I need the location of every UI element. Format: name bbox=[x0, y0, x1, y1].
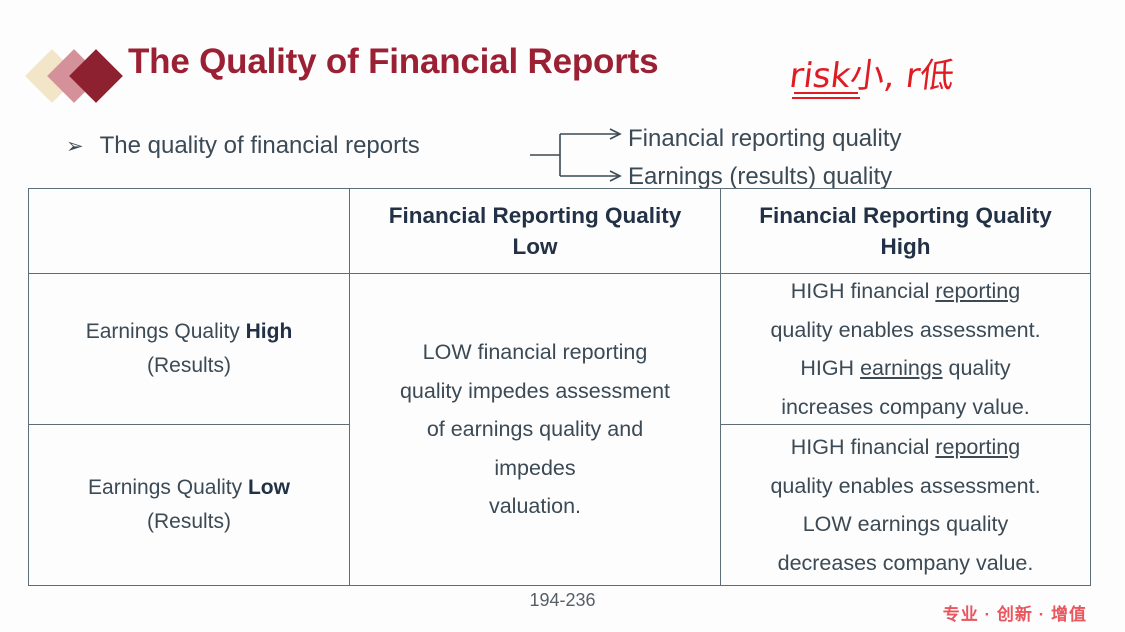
row-header-emphasis: High bbox=[246, 320, 293, 343]
row-header-earnings-low-line1: Earnings Quality Low bbox=[88, 471, 290, 505]
row-header-earnings-high-sub: (Results) bbox=[86, 349, 293, 383]
cell-high-reporting-high-earnings: HIGH financial reporting quality enables… bbox=[720, 273, 1091, 425]
cell-low-reporting-quality: LOW financial reporting quality impedes … bbox=[349, 273, 721, 586]
cell-high-reporting-low-earnings: HIGH financial reporting quality enables… bbox=[720, 424, 1091, 586]
cell-text-underlined: reporting bbox=[935, 435, 1020, 459]
cell-text-pre: decreases company value. bbox=[778, 551, 1034, 575]
bullet-line: ➢ The quality of financial reports bbox=[66, 132, 420, 160]
merged-line: quality impedes assessment bbox=[400, 372, 670, 411]
bullet-label: The quality of financial reports bbox=[100, 132, 420, 160]
row-header-earnings-high: Earnings Quality High (Results) bbox=[28, 273, 350, 425]
row-header-prefix: Earnings Quality bbox=[86, 320, 246, 343]
cell-line: decreases company value. bbox=[770, 544, 1040, 583]
slide-canvas: The Quality of Financial Reports risk小, … bbox=[0, 0, 1125, 632]
column-header-low-line2: Low bbox=[389, 231, 682, 262]
handwritten-annotation-text: risk小, r低 bbox=[787, 48, 957, 97]
row-header-prefix: Earnings Quality bbox=[88, 476, 248, 499]
column-header-high-line1: Financial Reporting Quality bbox=[759, 200, 1052, 231]
merged-line: valuation. bbox=[400, 487, 670, 526]
quality-matrix-table: Financial Reporting Quality Low Financia… bbox=[28, 188, 1091, 586]
column-header-high-line2: High bbox=[759, 231, 1052, 262]
row-header-earnings-high-line1: Earnings Quality High bbox=[86, 315, 293, 349]
column-header-low: Financial Reporting Quality Low bbox=[349, 188, 721, 274]
cell-line: HIGH financial reporting bbox=[770, 272, 1040, 311]
annotation-underline-1 bbox=[794, 92, 858, 94]
cell-line: LOW earnings quality bbox=[770, 505, 1040, 544]
branch-arrow-icon bbox=[530, 120, 630, 190]
cell-text-post: quality bbox=[943, 356, 1011, 380]
cell-text-underlined: reporting bbox=[935, 279, 1020, 303]
column-header-high: Financial Reporting Quality High bbox=[720, 188, 1091, 274]
handwritten-note-icon: risk小, r低 bbox=[790, 48, 1040, 118]
cell-text-pre: LOW earnings quality bbox=[803, 512, 1009, 536]
cell-text-underlined: earnings bbox=[860, 356, 942, 380]
table-corner-cell bbox=[28, 188, 350, 274]
diamond-logo-icon bbox=[33, 50, 133, 102]
cell-line: HIGH financial reporting bbox=[770, 428, 1040, 467]
merged-line: impedes bbox=[400, 449, 670, 488]
cell-text-pre: HIGH bbox=[800, 356, 860, 380]
merged-line: of earnings quality and bbox=[400, 410, 670, 449]
page-title: The Quality of Financial Reports bbox=[128, 42, 658, 82]
cell-line: HIGH earnings quality bbox=[770, 349, 1040, 388]
cell-text-pre: HIGH financial bbox=[791, 279, 936, 303]
cell-line: quality enables assessment. bbox=[770, 311, 1040, 350]
bullet-arrow-icon: ➢ bbox=[66, 136, 84, 157]
branch-label-list: Financial reporting quality Earnings (re… bbox=[628, 120, 1048, 196]
annotation-underline-2 bbox=[792, 97, 860, 99]
merged-line: LOW financial reporting bbox=[400, 333, 670, 372]
row-header-emphasis: Low bbox=[248, 476, 290, 499]
cell-text-pre: quality enables assessment. bbox=[770, 474, 1040, 498]
cell-text-pre: increases company value. bbox=[781, 395, 1030, 419]
row-header-earnings-low: Earnings Quality Low (Results) bbox=[28, 424, 350, 586]
cell-text-pre: HIGH financial bbox=[791, 435, 936, 459]
column-header-low-line1: Financial Reporting Quality bbox=[389, 200, 682, 231]
cell-line: quality enables assessment. bbox=[770, 467, 1040, 506]
brand-slogan: 专业 · 创新 · 增值 bbox=[943, 600, 1087, 625]
branch-item-reporting-quality: Financial reporting quality bbox=[628, 120, 1048, 158]
cell-text-pre: quality enables assessment. bbox=[770, 318, 1040, 342]
cell-line: increases company value. bbox=[770, 388, 1040, 427]
row-header-earnings-low-sub: (Results) bbox=[88, 505, 290, 539]
